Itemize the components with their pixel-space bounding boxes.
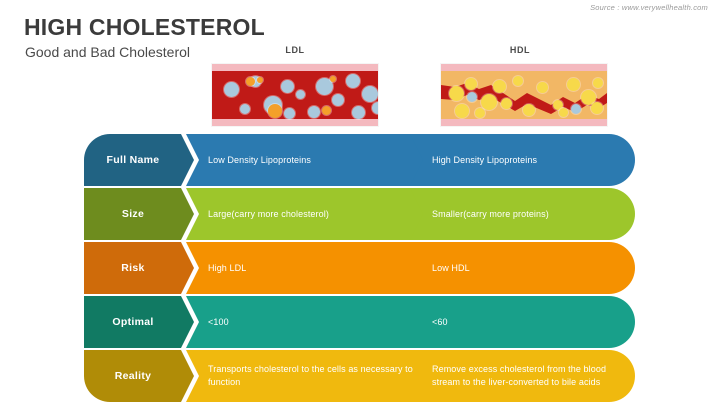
hdl-cholesterol-particle (501, 98, 512, 109)
ldl-lipoprotein-particle (240, 104, 250, 114)
cell-hdl-size[interactable]: Smaller(carry more proteins) (410, 188, 635, 240)
hdl-cholesterol-particle (481, 94, 497, 110)
hdl-cholesterol-particle (537, 82, 548, 93)
cell-hdl-full-name[interactable]: High Density Lipoproteins (410, 134, 635, 186)
row-label-text: Reality (84, 370, 194, 382)
ldl-vessel-wall-bottom (212, 119, 378, 126)
table-row: RealityTransports cholesterol to the cel… (0, 350, 720, 402)
cell-ldl-full-name[interactable]: Low Density Lipoproteins (186, 134, 434, 186)
table-row: RiskHigh LDLLow HDL (0, 242, 720, 294)
hdl-cholesterol-particle (455, 104, 469, 118)
ldl-lipoprotein-particle (281, 80, 294, 93)
hdl-cholesterol-particle (567, 78, 580, 91)
hdl-cholesterol-particle (493, 80, 506, 93)
table-row: Full NameLow Density LipoproteinsHigh De… (0, 134, 720, 186)
ldl-blood-vessel-illustration (212, 64, 378, 126)
ldl-lipoprotein-particle (308, 106, 320, 118)
column-header-hdl: HDL (455, 45, 585, 55)
column-header-ldl: LDL (230, 45, 360, 55)
hdl-cholesterol-particle (465, 78, 477, 90)
cell-text: High Density Lipoproteins (410, 154, 551, 167)
hdl-cholesterol-particle (513, 76, 523, 86)
source-attribution: Source : www.verywellhealth.com (590, 3, 708, 12)
infographic-canvas: Source : www.verywellhealth.com HIGH CHO… (0, 0, 720, 404)
ldl-cholesterol-particle (257, 77, 263, 83)
hdl-cholesterol-particle (449, 86, 464, 101)
cell-text: Transports cholesterol to the cells as n… (186, 363, 434, 389)
row-label-text: Full Name (84, 154, 194, 166)
ldl-lipoprotein-particle (296, 90, 305, 99)
ldl-lipoprotein-particle (346, 74, 360, 88)
cell-text: Remove excess cholesterol from the blood… (410, 363, 635, 389)
cell-text: Low Density Lipoproteins (186, 154, 325, 167)
row-label-reality[interactable]: Reality (84, 350, 194, 402)
page-subtitle: Good and Bad Cholesterol (25, 44, 190, 60)
hdl-blood-vessel-illustration (441, 64, 607, 126)
hdl-cholesterol-particle (475, 108, 485, 118)
row-label-size[interactable]: Size (84, 188, 194, 240)
ldl-cholesterol-particle (246, 77, 255, 86)
ldl-lipoprotein-particle (372, 102, 378, 114)
cell-text: <100 (186, 316, 243, 329)
row-label-optimal[interactable]: Optimal (84, 296, 194, 348)
cell-ldl-optimal[interactable]: <100 (186, 296, 434, 348)
page-title: HIGH CHOLESTEROL (24, 14, 265, 41)
cell-text: High LDL (186, 262, 260, 275)
hdl-vessel-wall-bottom (441, 119, 607, 126)
ldl-cholesterol-particle (330, 76, 336, 82)
cell-ldl-risk[interactable]: High LDL (186, 242, 434, 294)
hdl-lipoprotein-particle (571, 104, 581, 114)
cell-text: Smaller(carry more proteins) (410, 208, 563, 221)
ldl-lipoprotein-particle (332, 94, 344, 106)
cell-text: Large(carry more cholesterol) (186, 208, 343, 221)
table-row: SizeLarge(carry more cholesterol)Smaller… (0, 188, 720, 240)
hdl-cholesterol-particle (559, 108, 568, 117)
hdl-vessel-wall-top (441, 64, 607, 71)
ldl-cholesterol-particle (322, 106, 331, 115)
ldl-lipoprotein-particle (352, 106, 365, 119)
ldl-lipoprotein-particle (224, 82, 239, 97)
hdl-cholesterol-particle (591, 102, 603, 114)
row-label-full-name[interactable]: Full Name (84, 134, 194, 186)
hdl-cholesterol-particle (593, 78, 603, 88)
table-row: Optimal<100<60 (0, 296, 720, 348)
ldl-lipoprotein-particle (284, 108, 295, 119)
ldl-vessel-wall-top (212, 64, 378, 71)
ldl-cholesterol-particle (268, 104, 282, 118)
row-label-text: Risk (84, 262, 194, 274)
cell-hdl-risk[interactable]: Low HDL (410, 242, 635, 294)
hdl-lipoprotein-particle (467, 92, 477, 102)
cell-ldl-reality[interactable]: Transports cholesterol to the cells as n… (186, 350, 434, 402)
row-label-risk[interactable]: Risk (84, 242, 194, 294)
ldl-lipoprotein-particle (362, 86, 378, 102)
cell-ldl-size[interactable]: Large(carry more cholesterol) (186, 188, 434, 240)
row-label-text: Optimal (84, 316, 194, 328)
comparison-table: Full NameLow Density LipoproteinsHigh De… (0, 134, 720, 404)
cell-hdl-reality[interactable]: Remove excess cholesterol from the blood… (410, 350, 635, 402)
row-label-text: Size (84, 208, 194, 220)
hdl-cholesterol-particle (523, 104, 535, 116)
cell-hdl-optimal[interactable]: <60 (410, 296, 635, 348)
